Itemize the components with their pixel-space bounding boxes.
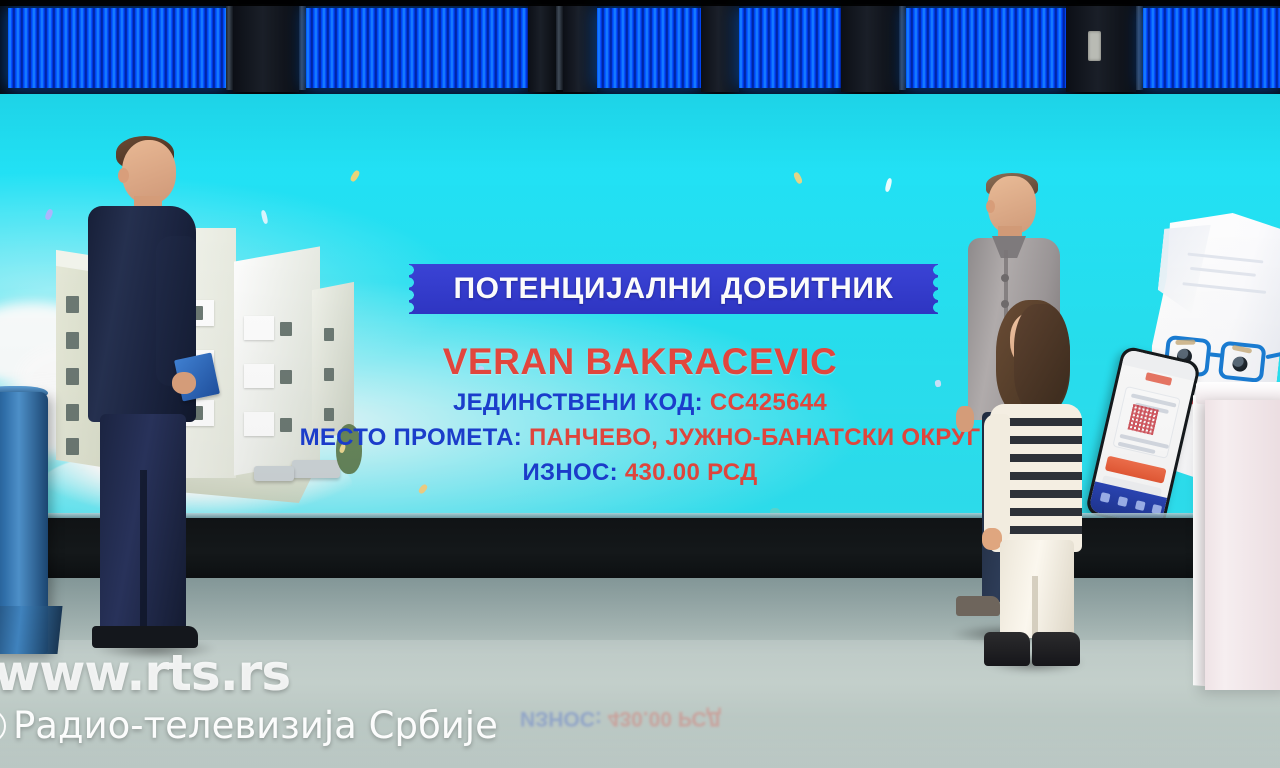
winner-code-value: CC425644 [710, 389, 827, 416]
broadcast-screenshot: ПОТЕНЦИЈАЛНИ ДОБИТНИК VERAN BAKRACEVIC Ј… [0, 0, 1280, 768]
winner-place-value: ПАНЧЕВО, ЈУЖНО-БАНАТСКИ ОКРУГ [529, 424, 980, 451]
winner-code-label: ЈЕДИНСТВЕНИ КОД: [453, 389, 703, 416]
reflection-value: 430.00 РСД [608, 707, 721, 730]
tv-host [78, 140, 218, 660]
winner-place-label: МЕСТО ПРОМЕТА: [300, 424, 522, 451]
floor-reflection-text: ИЗНОС: 430.00 РСД [520, 706, 860, 730]
winner-amount-value: 430.00 РСД [625, 459, 758, 486]
confetti-particle [793, 171, 804, 184]
confetti-particle [884, 178, 892, 193]
prize-winner-child [988, 300, 1084, 670]
white-podium [1205, 400, 1280, 690]
blue-podium-base [0, 606, 63, 654]
winner-amount-label: ИЗНОС: [523, 459, 618, 486]
status-badge: ПОТЕНЦИЈАЛНИ ДОБИТНИК [409, 264, 938, 314]
reflection-label: ИЗНОС: [520, 707, 602, 730]
confetti-particle [349, 169, 360, 182]
wall-switch-icon [1088, 31, 1101, 61]
badge-label: ПОТЕНЦИЈАЛНИ ДОБИТНИК [454, 272, 894, 306]
studio-led-wall [0, 0, 1280, 96]
